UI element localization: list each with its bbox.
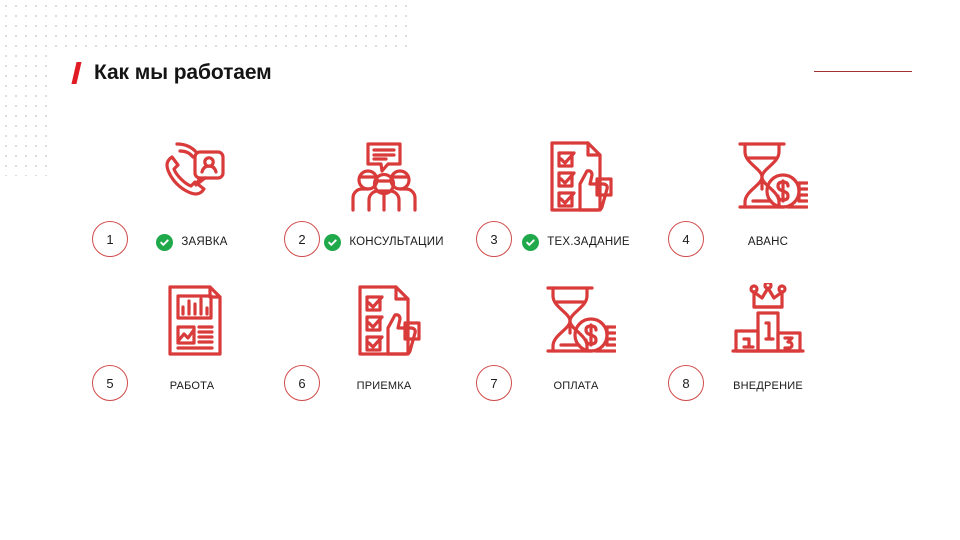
- hourglass-money-icon: [530, 279, 622, 363]
- people-chat-icon: [338, 135, 430, 219]
- completed-check-icon: [522, 234, 539, 251]
- step-item[interactable]: 7 ОПЛАТА: [480, 279, 672, 397]
- step-number-badge: 8: [668, 365, 704, 401]
- process-steps-grid: 1 ЗАЯВКА 2: [96, 135, 864, 397]
- checklist-thumbsup-icon: [338, 279, 430, 363]
- step-item[interactable]: 5 РАБОТА: [96, 279, 288, 397]
- step-label: КОНСУЛЬТАЦИИ: [349, 236, 443, 248]
- step-label-row: ВНЕДРЕНИЕ: [733, 377, 803, 395]
- slide-header: Как мы работаем: [74, 57, 272, 89]
- step-label-row: ТЕХ.ЗАДАНИЕ: [522, 233, 629, 251]
- step-label-row: ЗАЯВКА: [156, 233, 227, 251]
- step-label: ТЕХ.ЗАДАНИЕ: [547, 236, 629, 248]
- page-title: Как мы работаем: [94, 61, 272, 85]
- step-number-badge: 1: [92, 221, 128, 257]
- step-label-row: АВАНС: [748, 233, 788, 251]
- step-item[interactable]: 2 КОНСУЛЬТАЦИИ: [288, 135, 480, 253]
- step-label: ЗАЯВКА: [181, 236, 227, 248]
- dot-pattern-top: [0, 0, 414, 50]
- step-item[interactable]: 3 ТЕХ.ЗАДАНИЕ: [480, 135, 672, 253]
- completed-check-icon: [156, 234, 173, 251]
- step-item[interactable]: 6 ПРИЕМКА: [288, 279, 480, 397]
- step-item[interactable]: 1 ЗАЯВКА: [96, 135, 288, 253]
- step-number-badge: 5: [92, 365, 128, 401]
- step-label: ПРИЕМКА: [357, 380, 412, 392]
- header-rule: [814, 71, 912, 72]
- step-number-badge: 7: [476, 365, 512, 401]
- report-chart-icon: [146, 279, 238, 363]
- hourglass-money-icon: [722, 135, 814, 219]
- podium-crown-icon: [722, 279, 814, 363]
- dot-pattern-left: [0, 50, 48, 176]
- checklist-thumbsup-icon: [530, 135, 622, 219]
- completed-check-icon: [324, 234, 341, 251]
- phone-call-support-icon: [146, 135, 238, 219]
- step-number-badge: 2: [284, 221, 320, 257]
- step-label: ВНЕДРЕНИЕ: [733, 380, 803, 392]
- step-number-badge: 4: [668, 221, 704, 257]
- step-label: ОПЛАТА: [553, 380, 598, 392]
- step-item[interactable]: 8 ВНЕДРЕНИЕ: [672, 279, 864, 397]
- step-label-row: РАБОТА: [170, 377, 214, 395]
- step-label-row: КОНСУЛЬТАЦИИ: [324, 233, 443, 251]
- step-label-row: ОПЛАТА: [553, 377, 598, 395]
- step-item[interactable]: 4 АВАНС: [672, 135, 864, 253]
- step-label: АВАНС: [748, 236, 788, 248]
- step-label: РАБОТА: [170, 380, 214, 392]
- step-label-row: ПРИЕМКА: [357, 377, 412, 395]
- step-number-badge: 3: [476, 221, 512, 257]
- step-number-badge: 6: [284, 365, 320, 401]
- title-accent-slash-icon: [71, 62, 81, 84]
